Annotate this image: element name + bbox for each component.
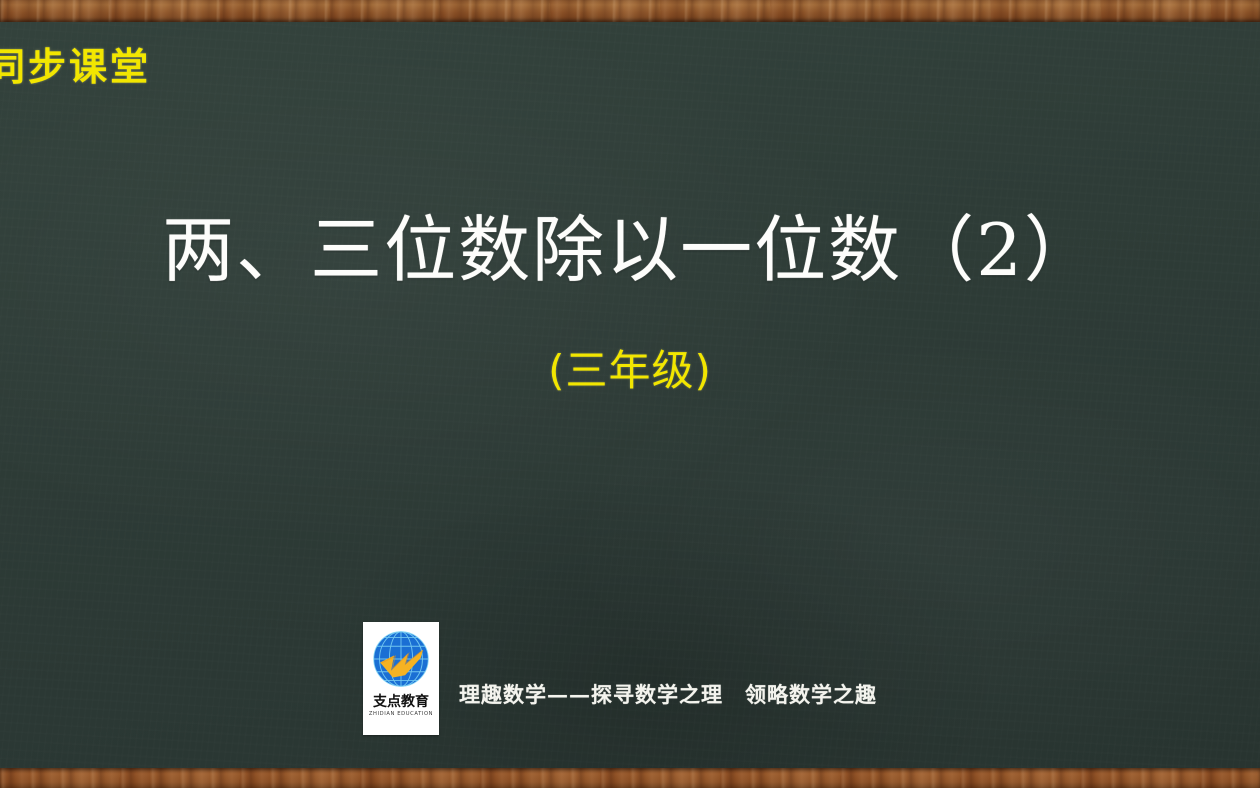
footer: 支点教育 ZHIDIAN EDUCATION 理趣数学——探寻数学之理 领略数学…	[363, 622, 877, 735]
subtitle-block: (三年级)	[0, 348, 1260, 394]
globe-logo-icon	[372, 630, 430, 688]
page-title: 两、三位数除以一位数（2）	[0, 212, 1260, 290]
logo-name-cn: 支点教育	[373, 695, 429, 709]
page-subtitle: (三年级)	[0, 348, 1260, 394]
wood-frame-top	[0, 0, 1260, 22]
logo-name-en: ZHIDIAN EDUCATION	[369, 712, 433, 717]
footer-tagline: 理趣数学——探寻数学之理 领略数学之趣	[459, 684, 877, 705]
title-block: 两、三位数除以一位数（2）	[0, 212, 1260, 290]
wood-frame-bottom	[0, 768, 1260, 788]
logo-card: 支点教育 ZHIDIAN EDUCATION	[363, 622, 439, 735]
chalkboard-slide: 同步课堂 两、三位数除以一位数（2） (三年级)	[0, 0, 1260, 788]
corner-label-tongbu-ketang: 同步课堂	[0, 48, 151, 86]
